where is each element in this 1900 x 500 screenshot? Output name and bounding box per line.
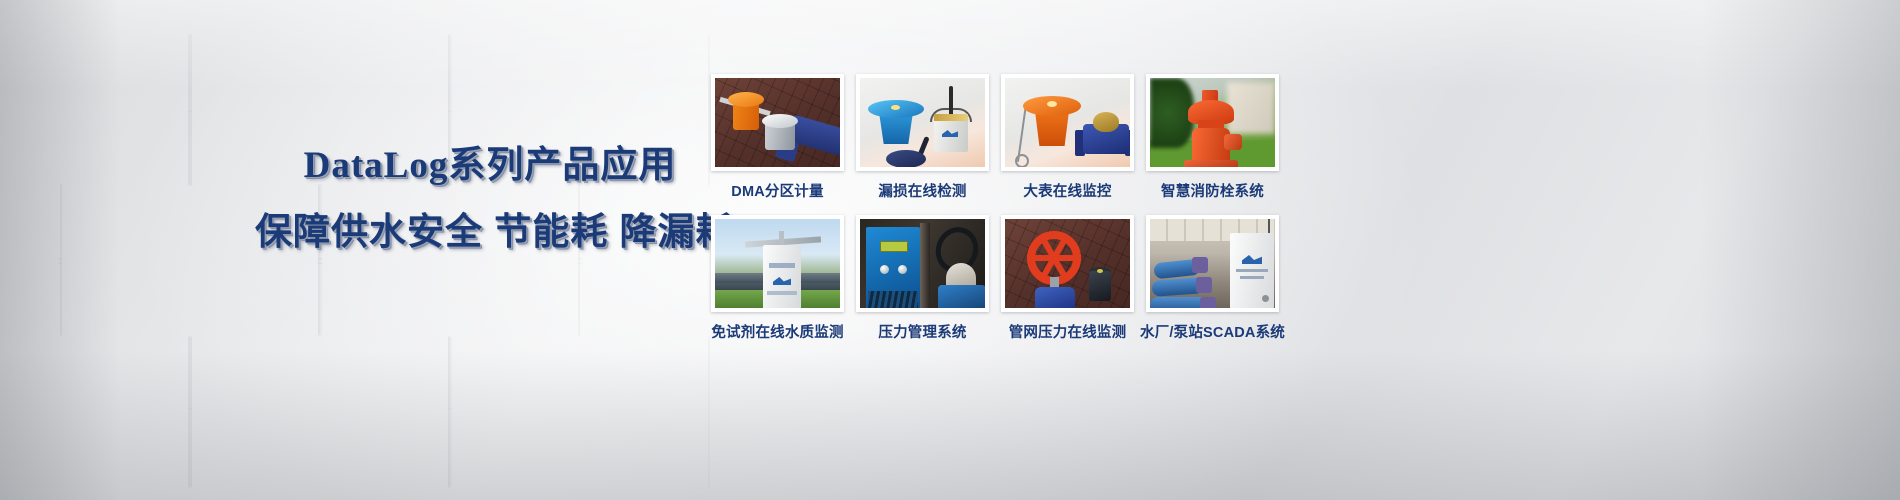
caption-leak-detection: 漏损在线检测 [850,180,995,201]
background-shade-bottom [0,350,1900,500]
caption-dma: DMA分区计量 [705,180,850,201]
thumbnail-large-meter[interactable] [1001,74,1134,171]
thumbnail-scada[interactable] [1146,215,1279,312]
photo-pump-room-scada-icon [1150,219,1275,308]
caption-pressure-management: 压力管理系统 [850,321,995,342]
photo-water-quality-station-icon [715,219,840,308]
thumbnail-network-pressure[interactable] [1001,215,1134,312]
promo-banner: DataLog系列产品应用 保障供水安全 节能耗 降漏耗 DMA分区计量 [0,0,1900,500]
gallery-item-dma[interactable]: DMA分区计量 [705,74,850,201]
caption-scada: 水厂/泵站SCADA系统 [1140,321,1285,342]
photo-orange-chamber-meter-icon [1005,78,1130,167]
photo-blue-chamber-logger-icon [860,78,985,167]
photo-fire-hydrant-icon [1150,78,1275,167]
gallery-item-large-meter[interactable]: 大表在线监控 [995,74,1140,201]
gallery-item-leak-detection[interactable]: 漏损在线检测 [850,74,995,201]
caption-smart-hydrant: 智慧消防栓系统 [1140,180,1285,201]
product-gallery: DMA分区计量 漏损在线检测 [705,74,1285,342]
caption-water-quality: 免试剂在线水质监测 [705,321,850,342]
thumbnail-pressure-management[interactable] [856,215,989,312]
gallery-item-pressure-management[interactable]: 压力管理系统 [850,215,995,342]
gallery-item-water-quality[interactable]: 免试剂在线水质监测 [705,215,850,342]
thumbnail-water-quality[interactable] [711,215,844,312]
gallery-item-smart-hydrant[interactable]: 智慧消防栓系统 [1140,74,1285,201]
gallery-row-1: DMA分区计量 漏损在线检测 [705,74,1285,201]
thumbnail-leak-detection[interactable] [856,74,989,171]
headline-block: DataLog系列产品应用 保障供水安全 节能耗 降漏耗 [255,144,725,254]
photo-orange-chamber-on-brick-icon [715,78,840,167]
gallery-row-2: 免试剂在线水质监测 压力管理系统 [705,215,1285,342]
headline-line-1: DataLog系列产品应用 [255,144,725,188]
thumbnail-smart-hydrant[interactable] [1146,74,1279,171]
caption-large-meter: 大表在线监控 [995,180,1140,201]
gallery-item-network-pressure[interactable]: 管网压力在线监测 [995,215,1140,342]
headline-line-2: 保障供水安全 节能耗 降漏耗 [255,210,725,254]
photo-control-panel-icon [860,219,985,308]
thumbnail-dma[interactable] [711,74,844,171]
photo-handwheel-valve-icon [1005,219,1130,308]
caption-network-pressure: 管网压力在线监测 [995,321,1140,342]
gallery-item-scada[interactable]: 水厂/泵站SCADA系统 [1140,215,1285,342]
